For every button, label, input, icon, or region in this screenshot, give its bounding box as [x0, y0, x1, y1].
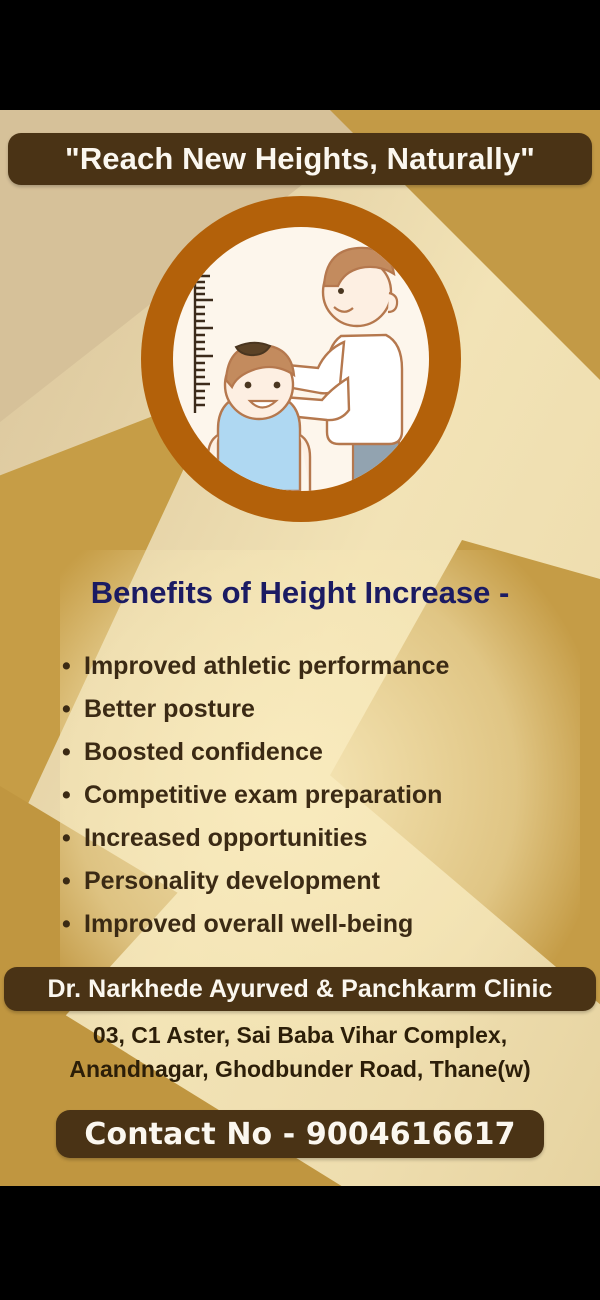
benefit-item: Increased opportunities: [58, 817, 578, 860]
benefit-item: Better posture: [58, 688, 578, 731]
address-line-2: Anandnagar, Ghodbunder Road, Thane(w): [0, 1052, 600, 1086]
benefits-heading: Benefits of Height Increase -: [0, 575, 600, 611]
contact-text: Contact No - 9004616617: [84, 1117, 515, 1152]
benefit-item: Personality development: [58, 860, 578, 903]
letterbox-bar-top: [0, 0, 600, 110]
poster-canvas: "Reach New Heights, Naturally": [0, 110, 600, 1186]
headline-ribbon: "Reach New Heights, Naturally": [8, 133, 592, 185]
benefits-list: Improved athletic performance Better pos…: [58, 645, 578, 946]
letterbox-bar-bottom: [0, 1186, 600, 1300]
contact-ribbon[interactable]: Contact No - 9004616617: [56, 1110, 544, 1158]
poster-root: "Reach New Heights, Naturally": [0, 0, 600, 1300]
clinic-name-text: Dr. Narkhede Ayurved & Panchkarm Clinic: [47, 975, 552, 1004]
clinic-address: 03, C1 Aster, Sai Baba Vihar Complex, An…: [0, 1018, 600, 1086]
benefit-item: Improved overall well-being: [58, 903, 578, 946]
address-line-1: 03, C1 Aster, Sai Baba Vihar Complex,: [0, 1018, 600, 1052]
headline-text: "Reach New Heights, Naturally": [65, 141, 535, 177]
benefit-item: Competitive exam preparation: [58, 774, 578, 817]
benefit-item: Improved athletic performance: [58, 645, 578, 688]
benefit-item: Boosted confidence: [58, 731, 578, 774]
clinic-name-ribbon: Dr. Narkhede Ayurved & Panchkarm Clinic: [4, 967, 596, 1011]
height-measurement-illustration: [110, 188, 492, 538]
